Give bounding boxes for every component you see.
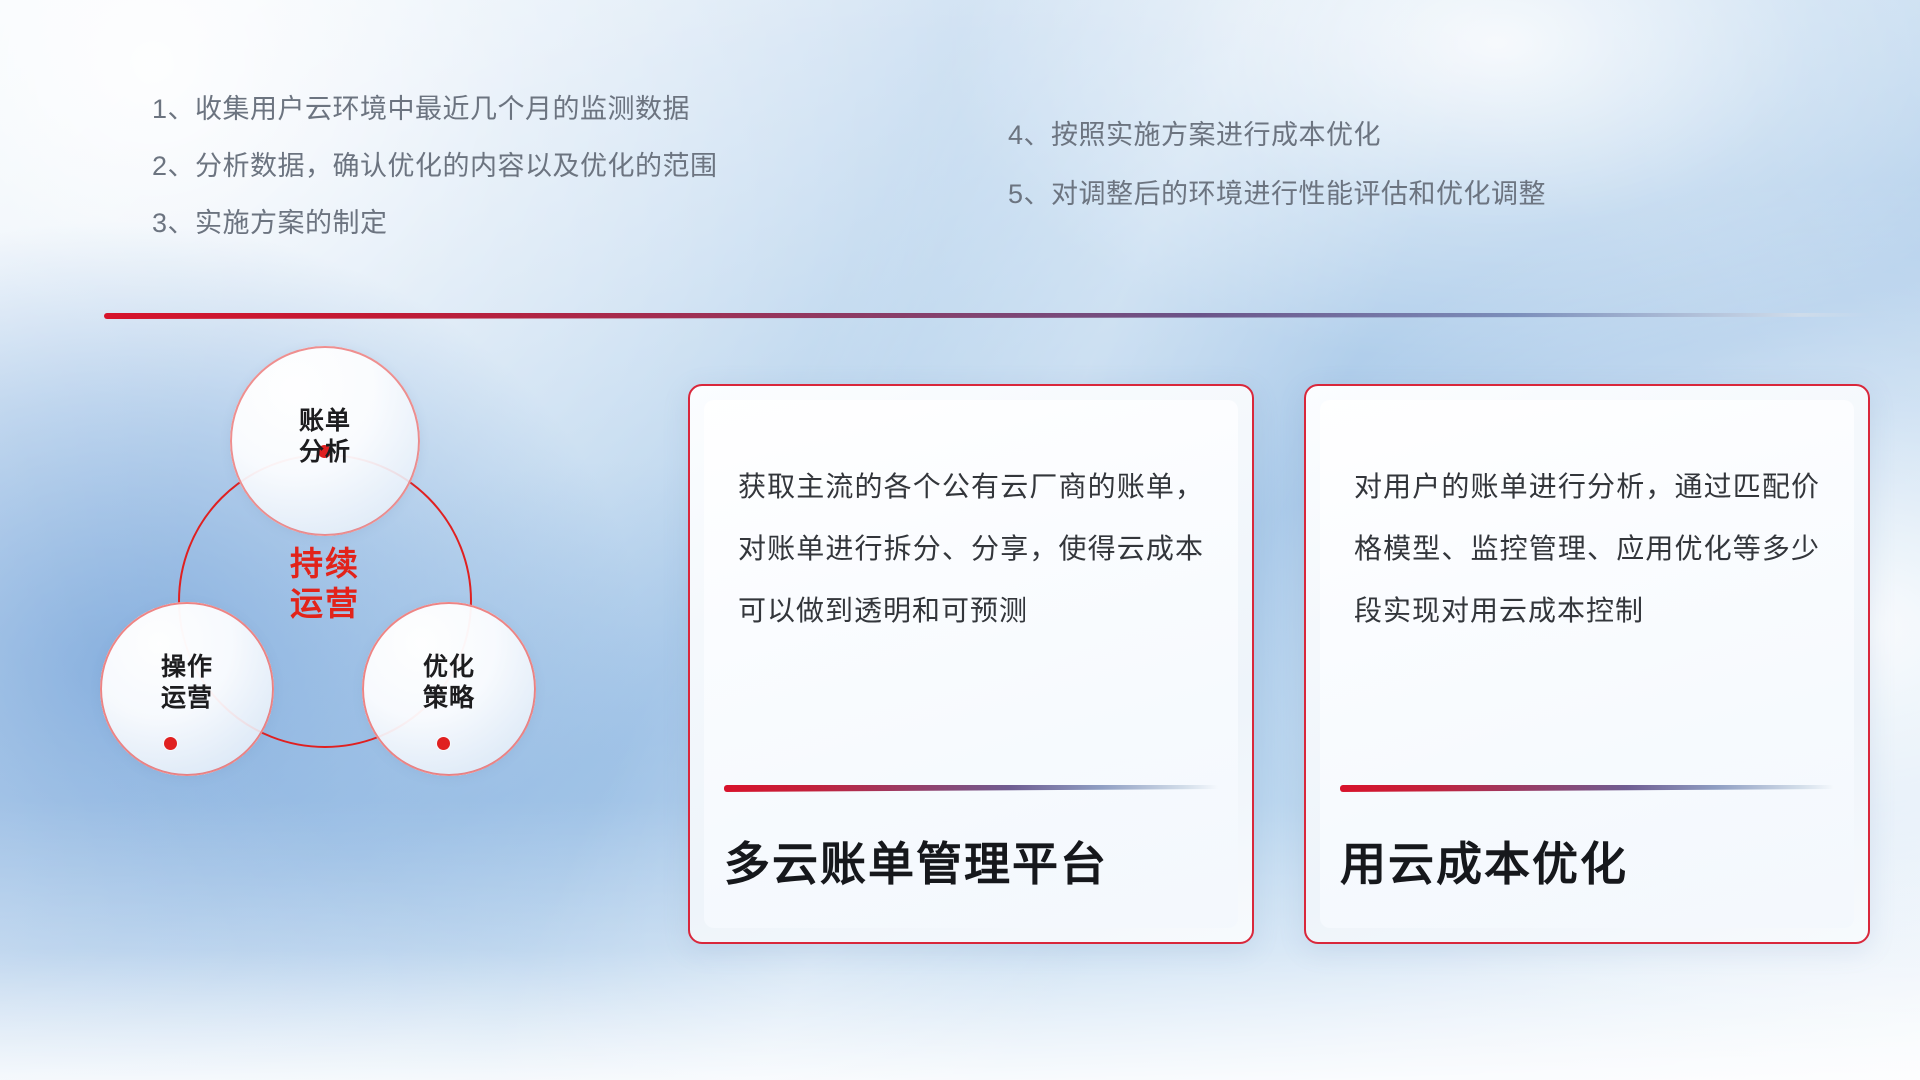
venn-label-operation-line1: 操作 xyxy=(100,652,274,683)
feature-card-cloud-cost-optimization[interactable]: 对用户的账单进行分析，通过匹配价格模型、监控管理、应用优化等多少段实现对用云成本… xyxy=(1304,384,1870,944)
venn-label-strategy: 优化 策略 xyxy=(362,652,536,713)
card-body-text: 对用户的账单进行分析，通过匹配价格模型、监控管理、应用优化等多少段实现对用云成本… xyxy=(1354,456,1820,642)
card-title: 多云账单管理平台 xyxy=(724,839,1108,890)
venn-label-billing-line1: 账单 xyxy=(230,406,420,437)
venn-label-billing-analysis: 账单 分析 xyxy=(230,406,420,467)
venn-center-label: 持续 运营 xyxy=(178,544,472,625)
venn-label-strategy-line1: 优化 xyxy=(362,652,536,683)
step-item-2: 2、分析数据，确认优化的内容以及优化的范围 xyxy=(152,153,718,180)
venn-label-strategy-line2: 策略 xyxy=(362,683,536,714)
card-title: 用云成本优化 xyxy=(1340,839,1628,890)
step-item-4: 4、按照实施方案进行成本优化 xyxy=(1008,122,1546,149)
venn-center-label-line2: 运营 xyxy=(178,584,472,624)
step-item-5: 5、对调整后的环境进行性能评估和优化调整 xyxy=(1008,181,1546,208)
feature-card-multi-cloud-bill-platform[interactable]: 获取主流的各个公有云厂商的账单，对账单进行拆分、分享，使得云成本可以做到透明和可… xyxy=(688,384,1254,944)
venn-dot-bottom-left xyxy=(164,737,177,750)
venn-label-operation: 操作 运营 xyxy=(100,652,274,713)
venn-diagram: 账单 分析 操作 运营 优化 策略 持续 运营 xyxy=(96,360,556,780)
steps-list: 1、收集用户云环境中最近几个月的监测数据 2、分析数据，确认优化的内容以及优化的… xyxy=(0,0,1920,300)
venn-label-billing-line2: 分析 xyxy=(230,437,420,468)
venn-center-label-line1: 持续 xyxy=(178,544,472,584)
venn-label-operation-line2: 运营 xyxy=(100,683,274,714)
step-item-3: 3、实施方案的制定 xyxy=(152,210,718,237)
steps-left-column: 1、收集用户云环境中最近几个月的监测数据 2、分析数据，确认优化的内容以及优化的… xyxy=(152,96,718,267)
step-item-1: 1、收集用户云环境中最近几个月的监测数据 xyxy=(152,96,718,123)
venn-dot-bottom-right xyxy=(437,737,450,750)
card-body-text: 获取主流的各个公有云厂商的账单，对账单进行拆分、分享，使得云成本可以做到透明和可… xyxy=(738,456,1204,642)
steps-right-column: 4、按照实施方案进行成本优化 5、对调整后的环境进行性能评估和优化调整 xyxy=(1008,122,1546,240)
